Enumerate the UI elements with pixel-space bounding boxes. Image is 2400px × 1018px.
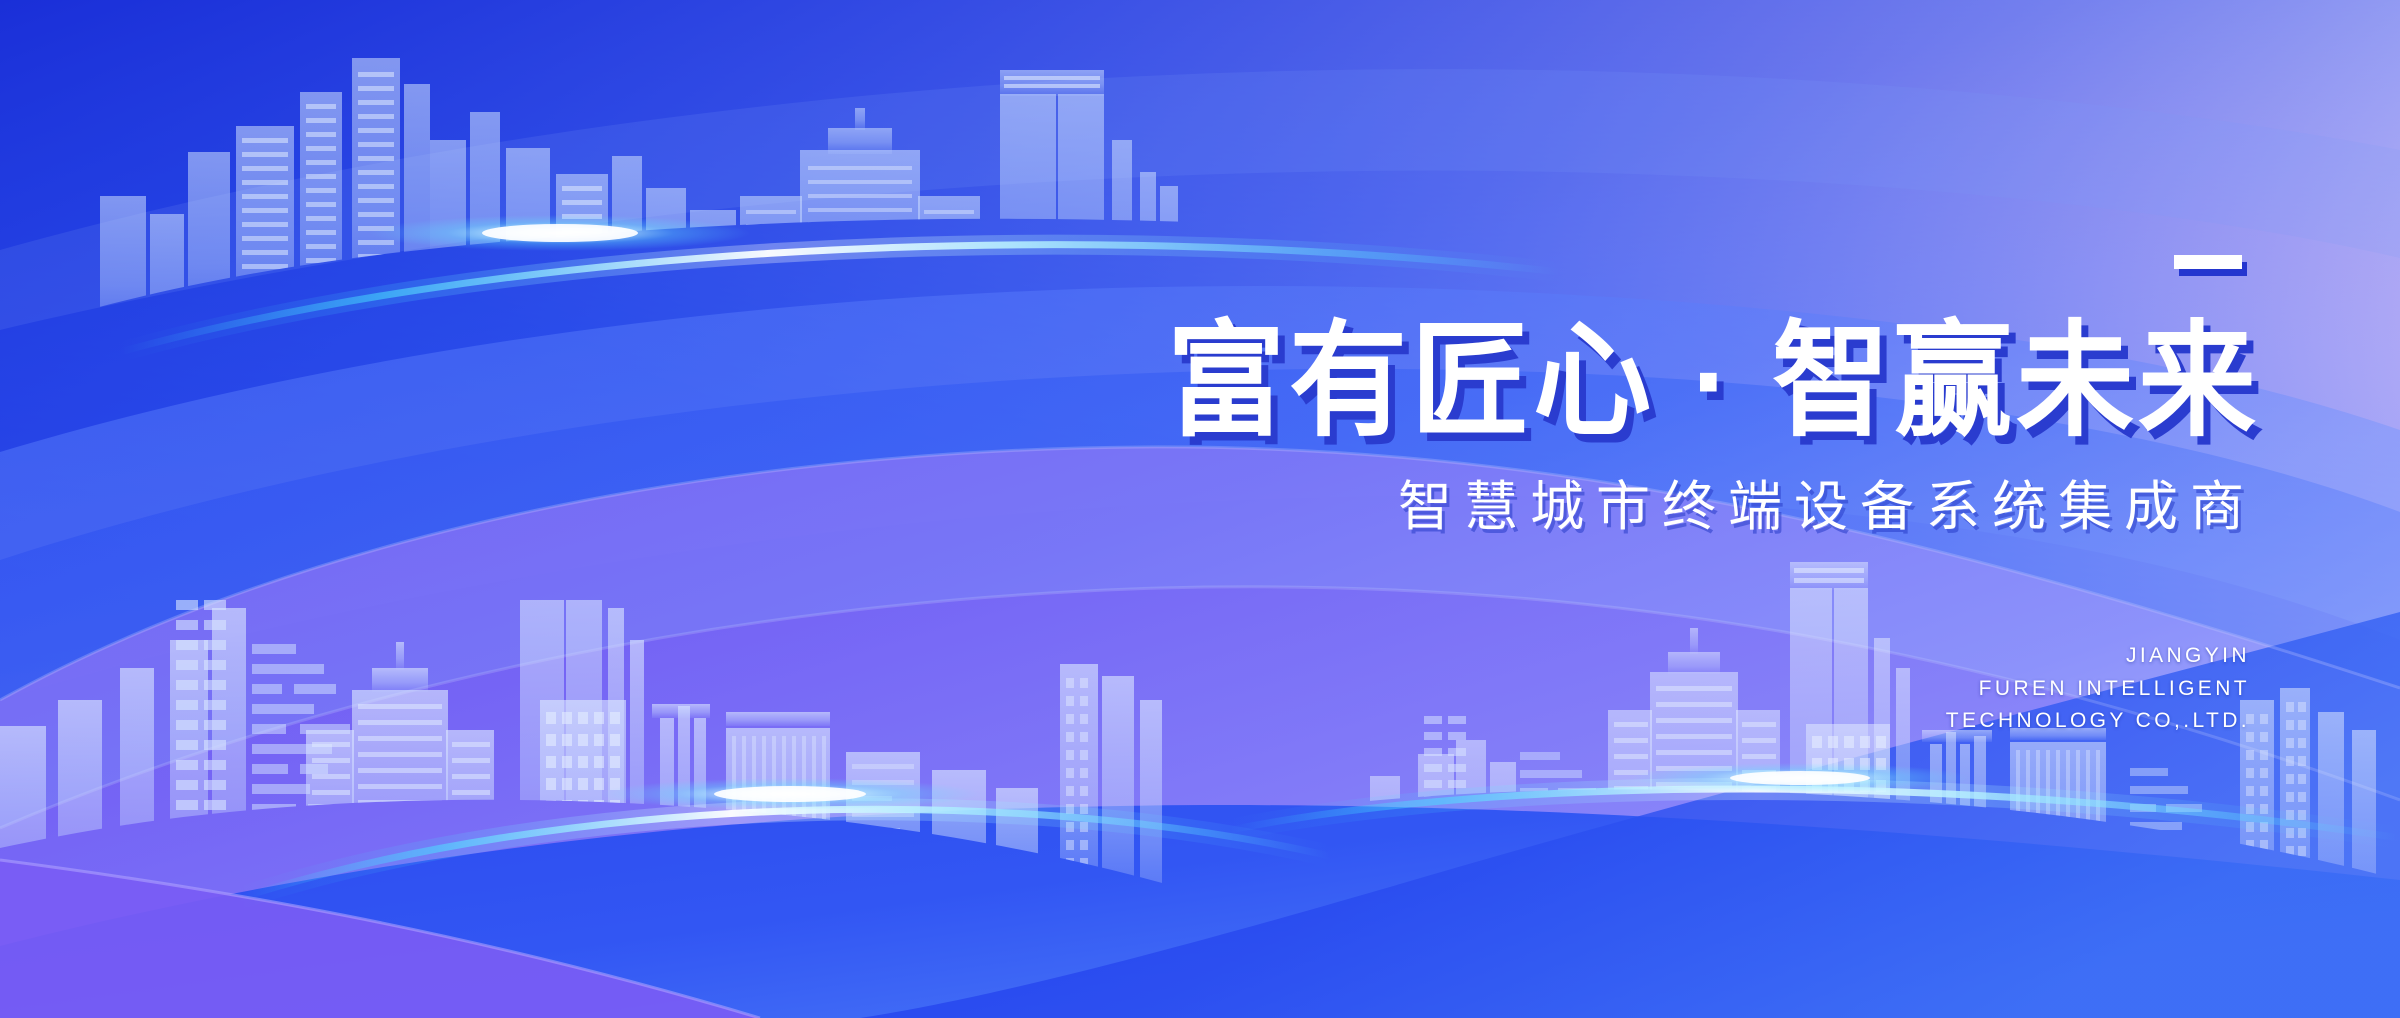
company-name-block: JIANGYIN FUREN INTELLIGENT TECHNOLOGY CO… <box>1946 640 2250 738</box>
background-artwork <box>0 0 2400 1018</box>
company-line-3: TECHNOLOGY CO,.LTD. <box>1946 705 2250 738</box>
banner-root: 富有匠心 · 智赢未来 智慧城市终端设备系统集成商 JIANGYIN FUREN… <box>0 0 2400 1018</box>
company-line-1: JIANGYIN <box>1946 640 2250 673</box>
company-line-2: FUREN INTELLIGENT <box>1946 673 2250 706</box>
